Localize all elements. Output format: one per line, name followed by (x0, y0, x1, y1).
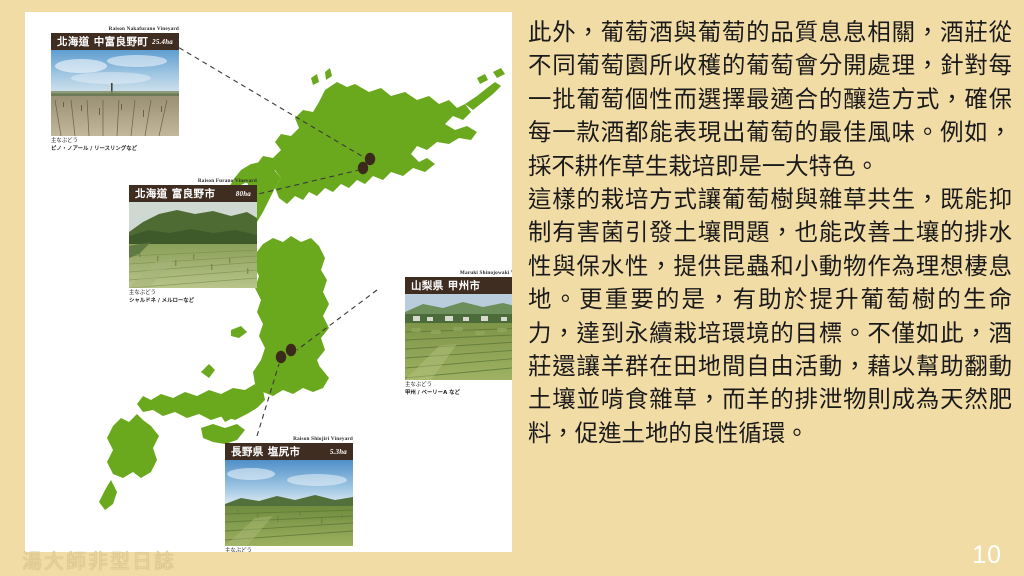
map-panel: Raison Nakafurano Vineyard 北海道 中富良野町 25.… (25, 12, 512, 552)
card-caption-label: 主なぶどう (129, 290, 257, 298)
slide-root: Raison Nakafurano Vineyard 北海道 中富良野町 25.… (0, 0, 1024, 576)
card-caption-label: 主なぶどう (225, 548, 353, 552)
card-place-name: 北海道 富良野市 (135, 186, 215, 201)
marker-shiojiri (276, 351, 286, 363)
marker-koshu (286, 344, 296, 356)
card-place-name: 山梨県 甲州市 (411, 278, 480, 293)
card-caption: 主なぶどう 甲州 / ベーリーA など (405, 382, 512, 397)
vineyard-card-furano[interactable]: Raison Furano Vineyard 北海道 富良野市 80ha (129, 178, 257, 305)
card-caption: 主なぶどう (225, 548, 353, 552)
card-eyebrow: Maruki Shinojowaki Vineyard (405, 270, 512, 277)
body-paragraph-1: 此外，葡萄酒與葡萄的品質息息相關，酒莊從不同葡萄園所收穫的葡萄會分開處理，針對每… (528, 16, 1012, 183)
card-caption-label: 主なぶどう (51, 138, 179, 146)
card-title-bar: 長野県 塩尻市 5.3ha (225, 443, 353, 460)
card-caption-label: 主なぶどう (405, 382, 512, 390)
card-title-bar: 北海道 富良野市 80ha (129, 185, 257, 202)
card-eyebrow: Raison Shiojiri Vineyard (225, 436, 353, 443)
card-caption-value: 甲州 / ベーリーA など (405, 390, 512, 398)
card-eyebrow: Raison Furano Vineyard (129, 178, 257, 185)
vineyard-card-nakafurano[interactable]: Raison Nakafurano Vineyard 北海道 中富良野町 25.… (51, 26, 179, 153)
card-place-name: 北海道 中富良野町 (57, 34, 148, 49)
card-area-value: 25.4ha (152, 38, 173, 46)
body-text-column: 此外，葡萄酒與葡萄的品質息息相關，酒莊從不同葡萄園所收穫的葡萄會分開處理，針對每… (528, 16, 1012, 450)
vineyard-card-koshu[interactable]: Maruki Shinojowaki Vineyard 山梨県 甲州市 2ha (405, 270, 512, 397)
body-paragraph-2: 這樣的栽培方式讓葡萄樹與雜草共生，既能抑制有害菌引發土壤問題，也能改善土壤的排水… (528, 183, 1012, 450)
card-caption-value: ピノ・ノアール / リースリングなど (51, 146, 179, 154)
card-photo-terraced-vineyard (405, 294, 512, 380)
card-photo-wide-field (225, 460, 353, 546)
card-photo-green-hill (129, 202, 257, 288)
watermark-text: 湯大師非型日誌 (22, 545, 176, 574)
vineyard-card-shiojiri[interactable]: Raison Shiojiri Vineyard 長野県 塩尻市 5.3ha (225, 436, 353, 552)
card-place-name: 長野県 塩尻市 (231, 444, 300, 459)
card-area-value: 80ha (236, 190, 251, 198)
marker-furano (358, 162, 368, 174)
page-number: 10 (972, 541, 1002, 570)
card-title-bar: 山梨県 甲州市 2ha (405, 277, 512, 294)
card-caption: 主なぶどう シャルドネ / メルローなど (129, 290, 257, 305)
card-area-value: 5.3ha (330, 448, 347, 456)
card-eyebrow: Raison Nakafurano Vineyard (51, 26, 179, 33)
card-caption: 主なぶどう ピノ・ノアール / リースリングなど (51, 138, 179, 153)
card-photo-bare-vineyard (51, 50, 179, 136)
card-caption-value: シャルドネ / メルローなど (129, 298, 257, 306)
card-title-bar: 北海道 中富良野町 25.4ha (51, 33, 179, 50)
